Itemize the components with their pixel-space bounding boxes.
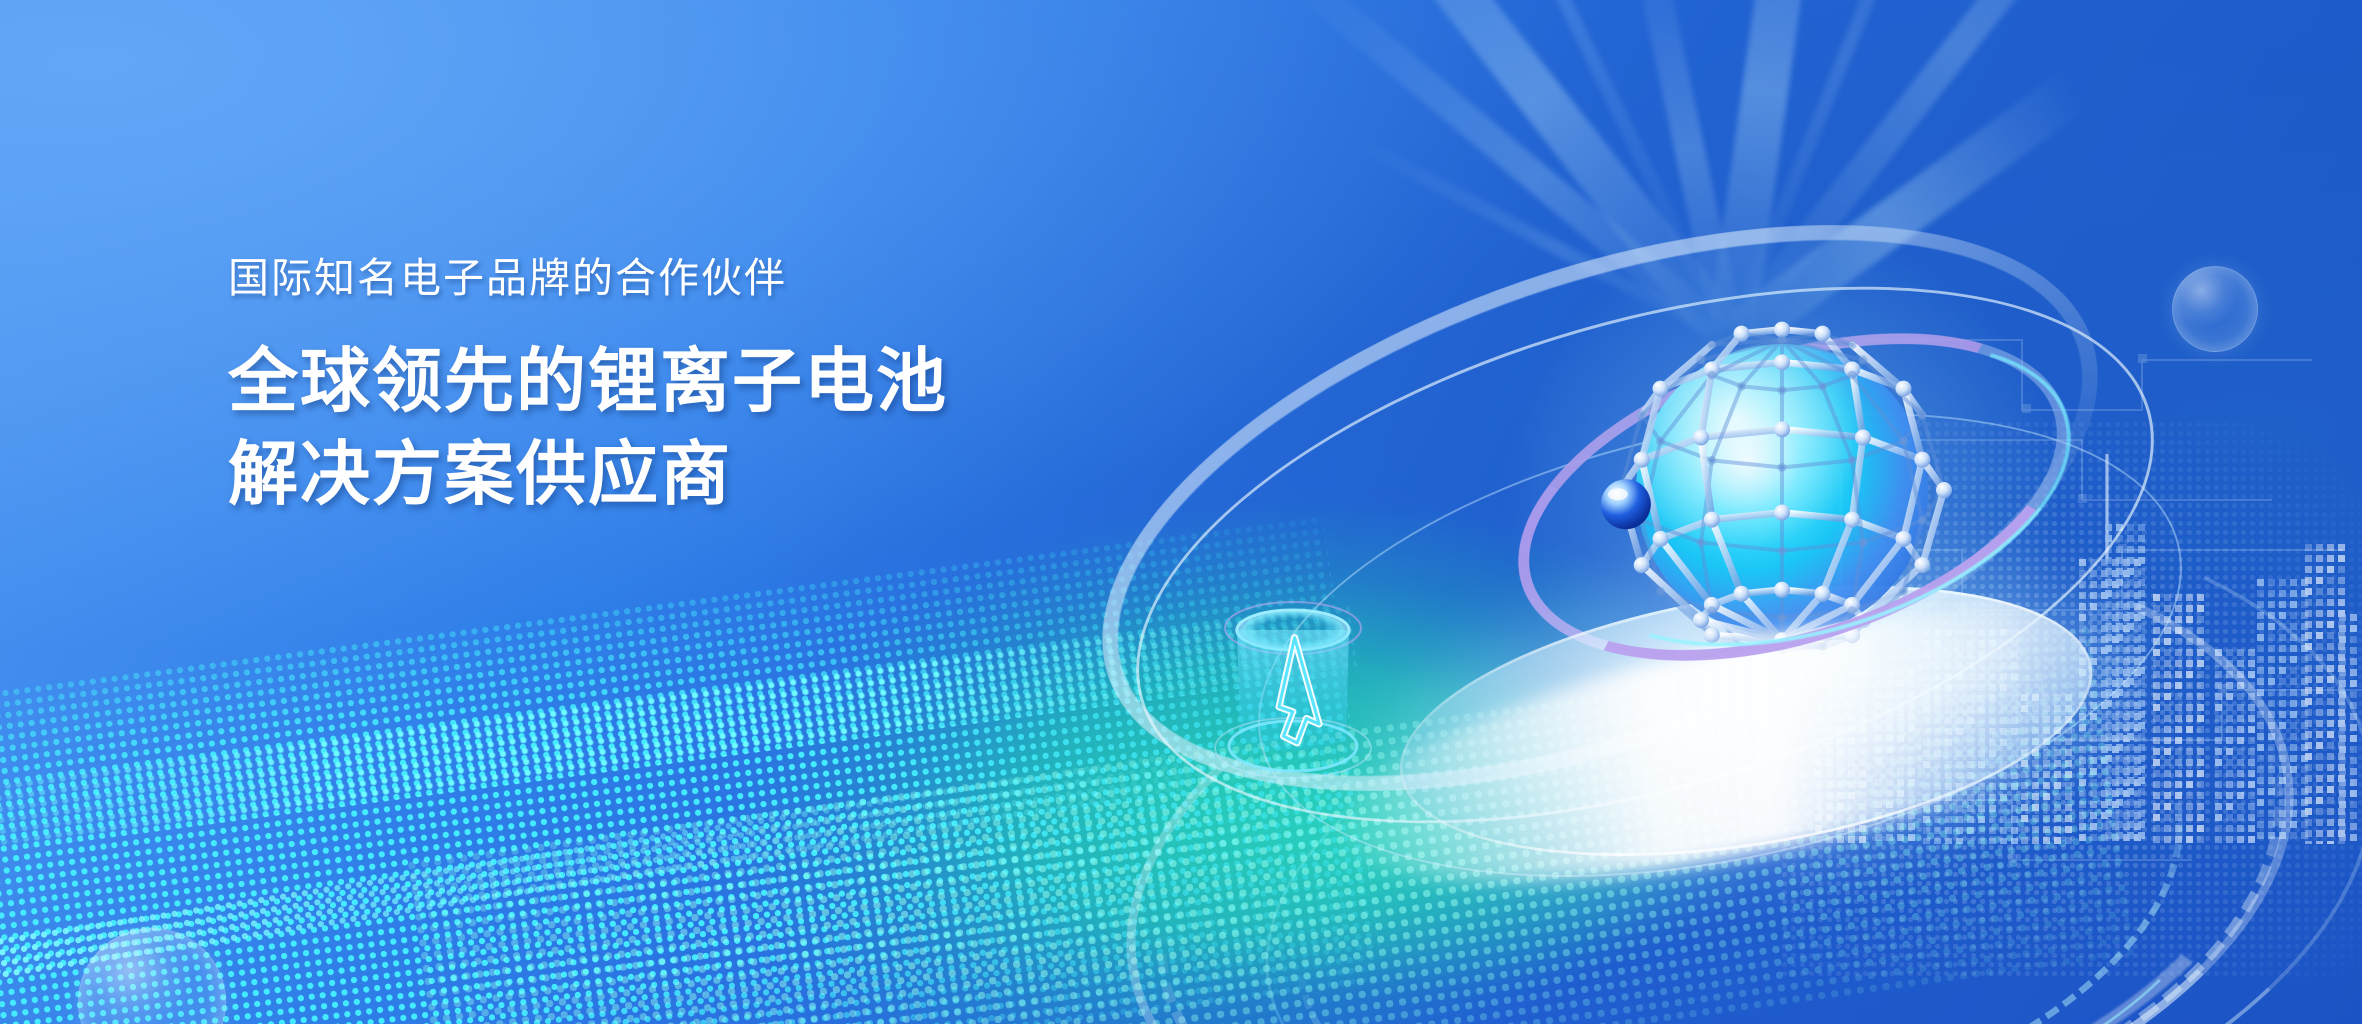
hero-banner: 国际知名电子品牌的合作伙伴 全球领先的锂离子电池 解决方案供应商 <box>0 0 2362 1024</box>
glass-bubble-top-right <box>2172 266 2258 352</box>
hero-copy: 国际知名电子品牌的合作伙伴 全球领先的锂离子电池 解决方案供应商 <box>228 258 948 521</box>
banner-eyebrow: 国际知名电子品牌的合作伙伴 <box>228 258 948 299</box>
banner-headline: 全球领先的锂离子电池 解决方案供应商 <box>228 335 948 521</box>
light-portal-cursor <box>1198 590 1388 790</box>
